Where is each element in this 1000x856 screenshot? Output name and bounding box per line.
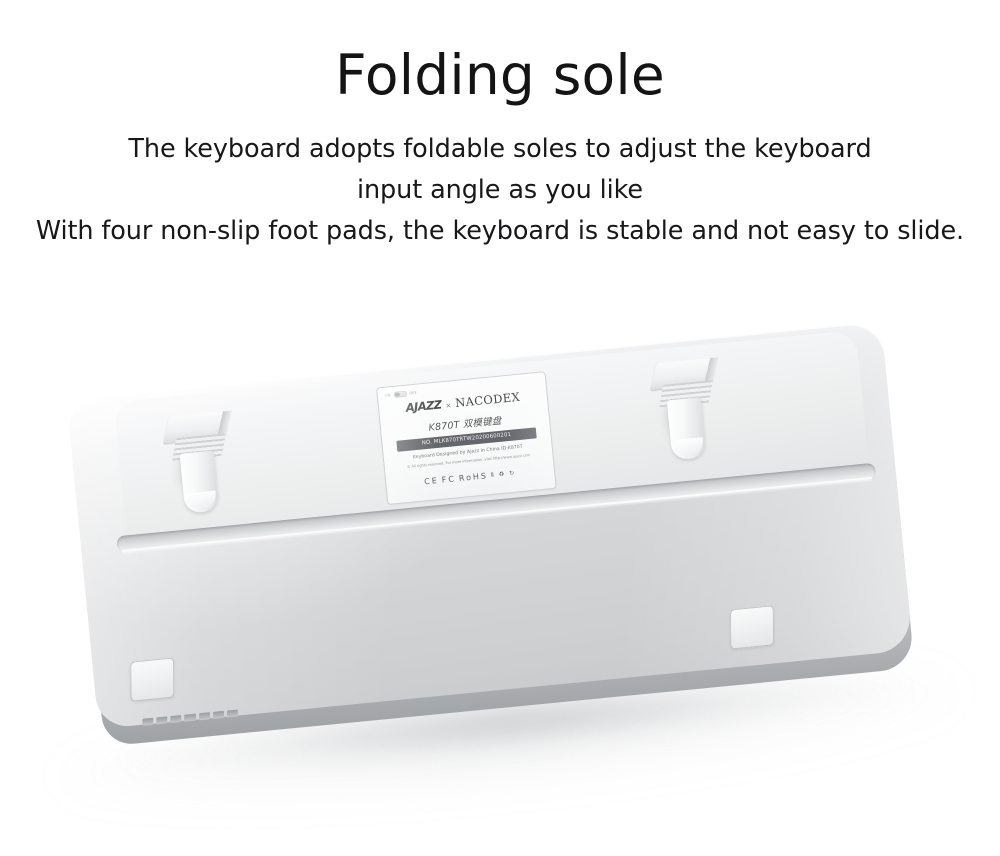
brand-ajazz: AJAZZ	[405, 399, 442, 414]
switch-label-on: ON	[385, 393, 391, 398]
folding-foot-right	[652, 358, 726, 466]
recycle-mark-icon: ♻	[499, 470, 507, 478]
keycap-sliver	[156, 716, 167, 724]
folding-foot-left-leg	[180, 451, 220, 514]
ce-mark-icon: CE	[424, 476, 439, 486]
label-certification-marks: CE FC RoHS Ⅱ ♻ ↻	[386, 465, 554, 490]
rohs-mark-icon: RoHS	[458, 471, 488, 483]
folding-foot-right-leg	[667, 397, 707, 460]
subtitle-line-1: The keyboard adopts foldable soles to ad…	[0, 129, 1000, 170]
non-slip-foot-pad-bottom-right	[730, 605, 774, 649]
keycap-sliver	[170, 715, 181, 723]
weee-mark-icon: ↻	[509, 469, 517, 477]
keycap-sliver	[227, 709, 238, 717]
brand-separator: ×	[445, 402, 452, 410]
switch-label-off: OFF	[409, 391, 417, 396]
keycap-sliver	[142, 718, 153, 726]
power-switch-indicator: ON OFF	[385, 390, 417, 399]
product-spec-label: ON OFF AJAZZ × NACODEX K870T 双模键盘 NO. ML…	[377, 372, 555, 504]
subtitle-line-2: input angle as you like	[0, 170, 1000, 211]
header-text-block: Folding sole The keyboard adopts foldabl…	[0, 0, 1000, 252]
subtitle-line-3: With four non-slip foot pads, the keyboa…	[0, 211, 1000, 252]
class-ii-mark-icon: Ⅱ	[491, 471, 497, 478]
folding-foot-left	[165, 411, 239, 519]
switch-slider-icon	[393, 391, 407, 398]
keycap-sliver	[213, 711, 224, 719]
page-subtitle: The keyboard adopts foldable soles to ad…	[0, 105, 1000, 252]
page-title: Folding sole	[0, 0, 1000, 105]
fcc-mark-icon: FC	[441, 474, 456, 484]
non-slip-foot-pad-bottom-left	[130, 657, 174, 701]
brand-nacodex: NACODEX	[455, 392, 521, 410]
keycap-sliver	[185, 714, 196, 722]
product-photo-stage: ON OFF AJAZZ × NACODEX K870T 双模键盘 NO. ML…	[0, 300, 1000, 856]
keycap-sliver	[199, 712, 210, 720]
